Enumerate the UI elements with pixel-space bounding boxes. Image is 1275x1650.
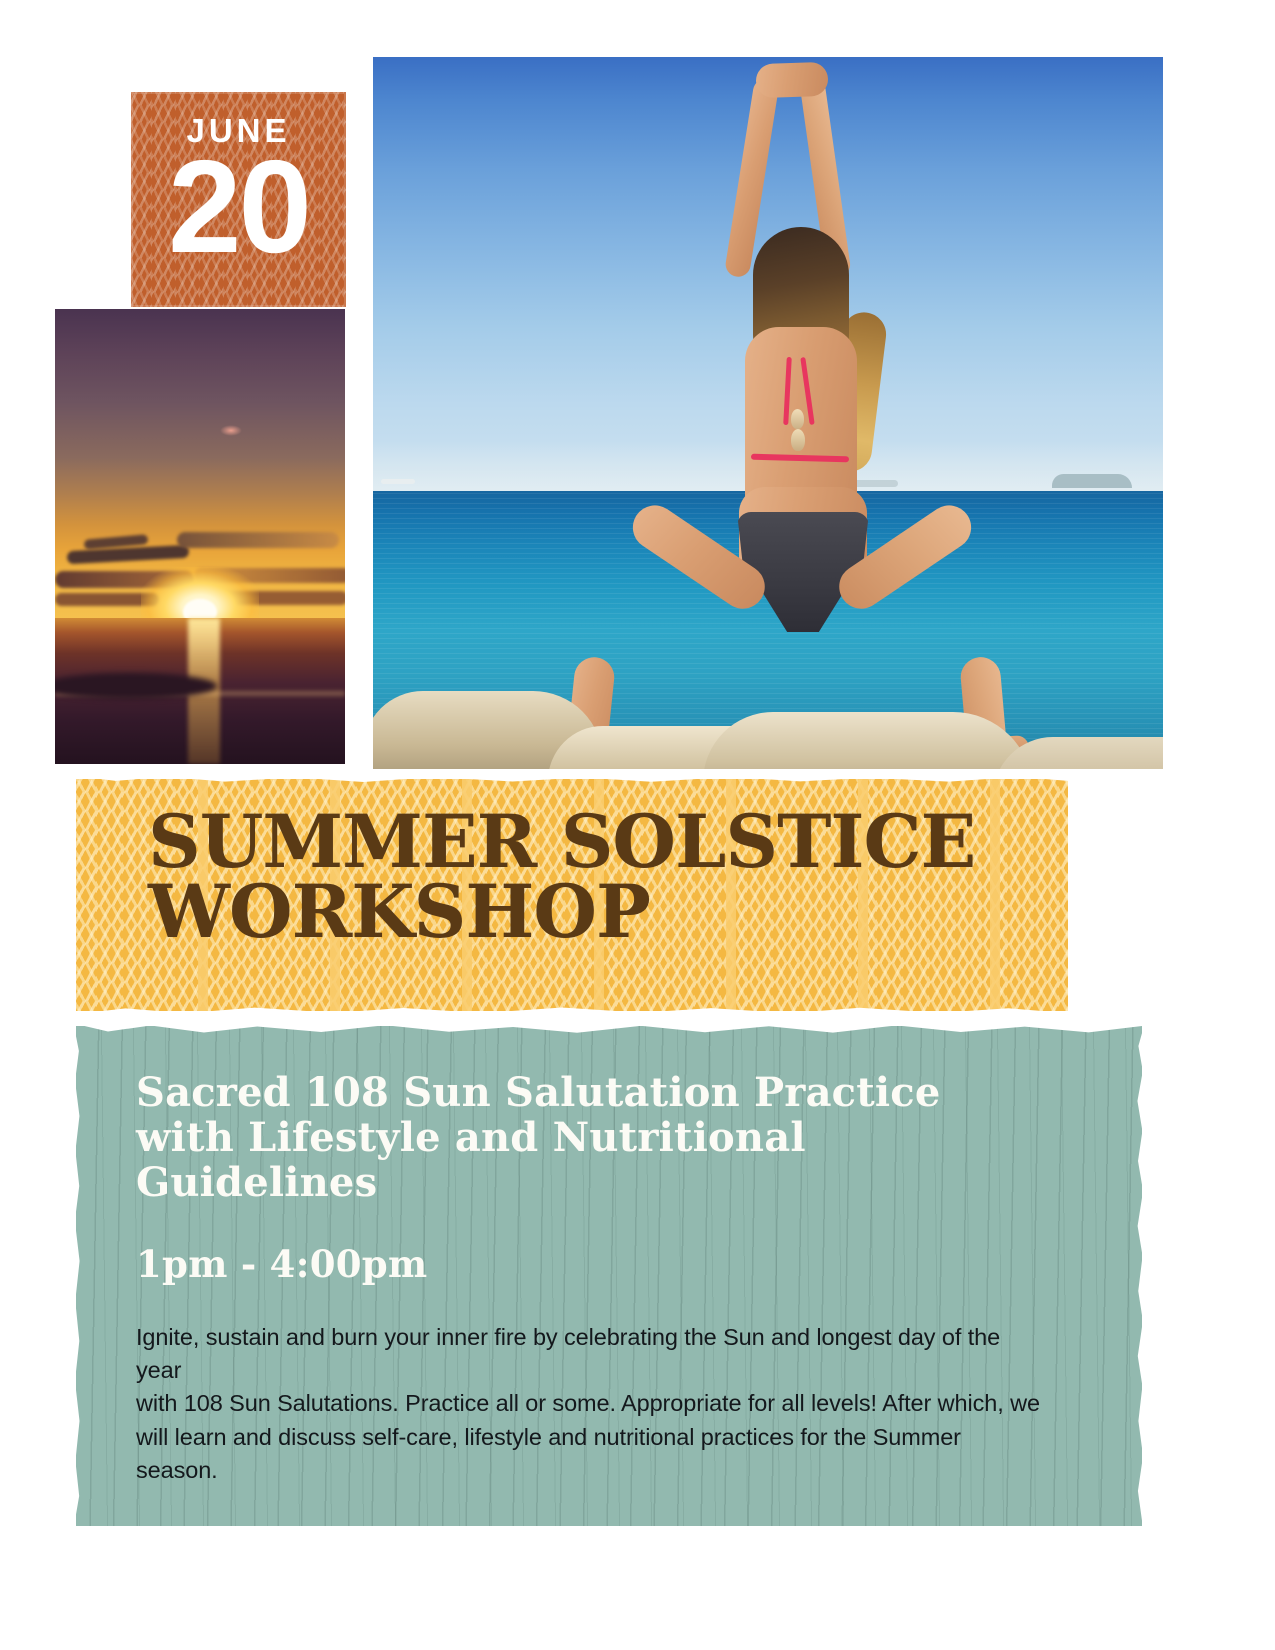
main-yoga-photo xyxy=(373,57,1163,769)
subtitle-line-1: Sacred 108 Sun Salutation Practice xyxy=(136,1070,1112,1115)
sunset-photo xyxy=(55,309,345,764)
workshop-subtitle: Sacred 108 Sun Salutation Practice with … xyxy=(136,1070,1112,1206)
workshop-price: $36 xyxy=(136,1525,1112,1526)
figure-shell-pendant xyxy=(791,409,804,429)
figure-clasped-hands xyxy=(755,62,828,98)
flyer-page: JUNE 20 xyxy=(0,0,1275,1650)
details-panel: Sacred 108 Sun Salutation Practice with … xyxy=(76,1026,1142,1526)
subtitle-line-2: with Lifestyle and Nutritional xyxy=(136,1115,1112,1160)
page-title: SUMMER SOLSTICE WORKSHOP xyxy=(148,807,1052,947)
subtitle-line-3: Guidelines xyxy=(136,1160,1112,1205)
workshop-time: 1pm - 4:00pm xyxy=(136,1246,1112,1283)
workshop-description: Ignite, sustain and burn your inner fire… xyxy=(136,1321,1046,1488)
description-line-3: will learn and discuss self-care, lifest… xyxy=(136,1421,1046,1488)
photo-rock xyxy=(703,712,1033,769)
figure-shell-pendant xyxy=(791,429,805,451)
title-line-2: WORKSHOP xyxy=(148,877,1052,947)
description-line-1: Ignite, sustain and burn your inner fire… xyxy=(136,1321,1046,1388)
description-line-2: with 108 Sun Salutations. Practice all o… xyxy=(136,1387,1046,1420)
title-banner: SUMMER SOLSTICE WORKSHOP xyxy=(76,779,1068,1011)
date-day-label: 20 xyxy=(168,143,309,271)
date-badge: JUNE 20 xyxy=(131,92,346,307)
yoga-figure xyxy=(373,57,1163,769)
title-line-1: SUMMER SOLSTICE xyxy=(148,807,1052,877)
sunset-cloud xyxy=(177,532,339,548)
